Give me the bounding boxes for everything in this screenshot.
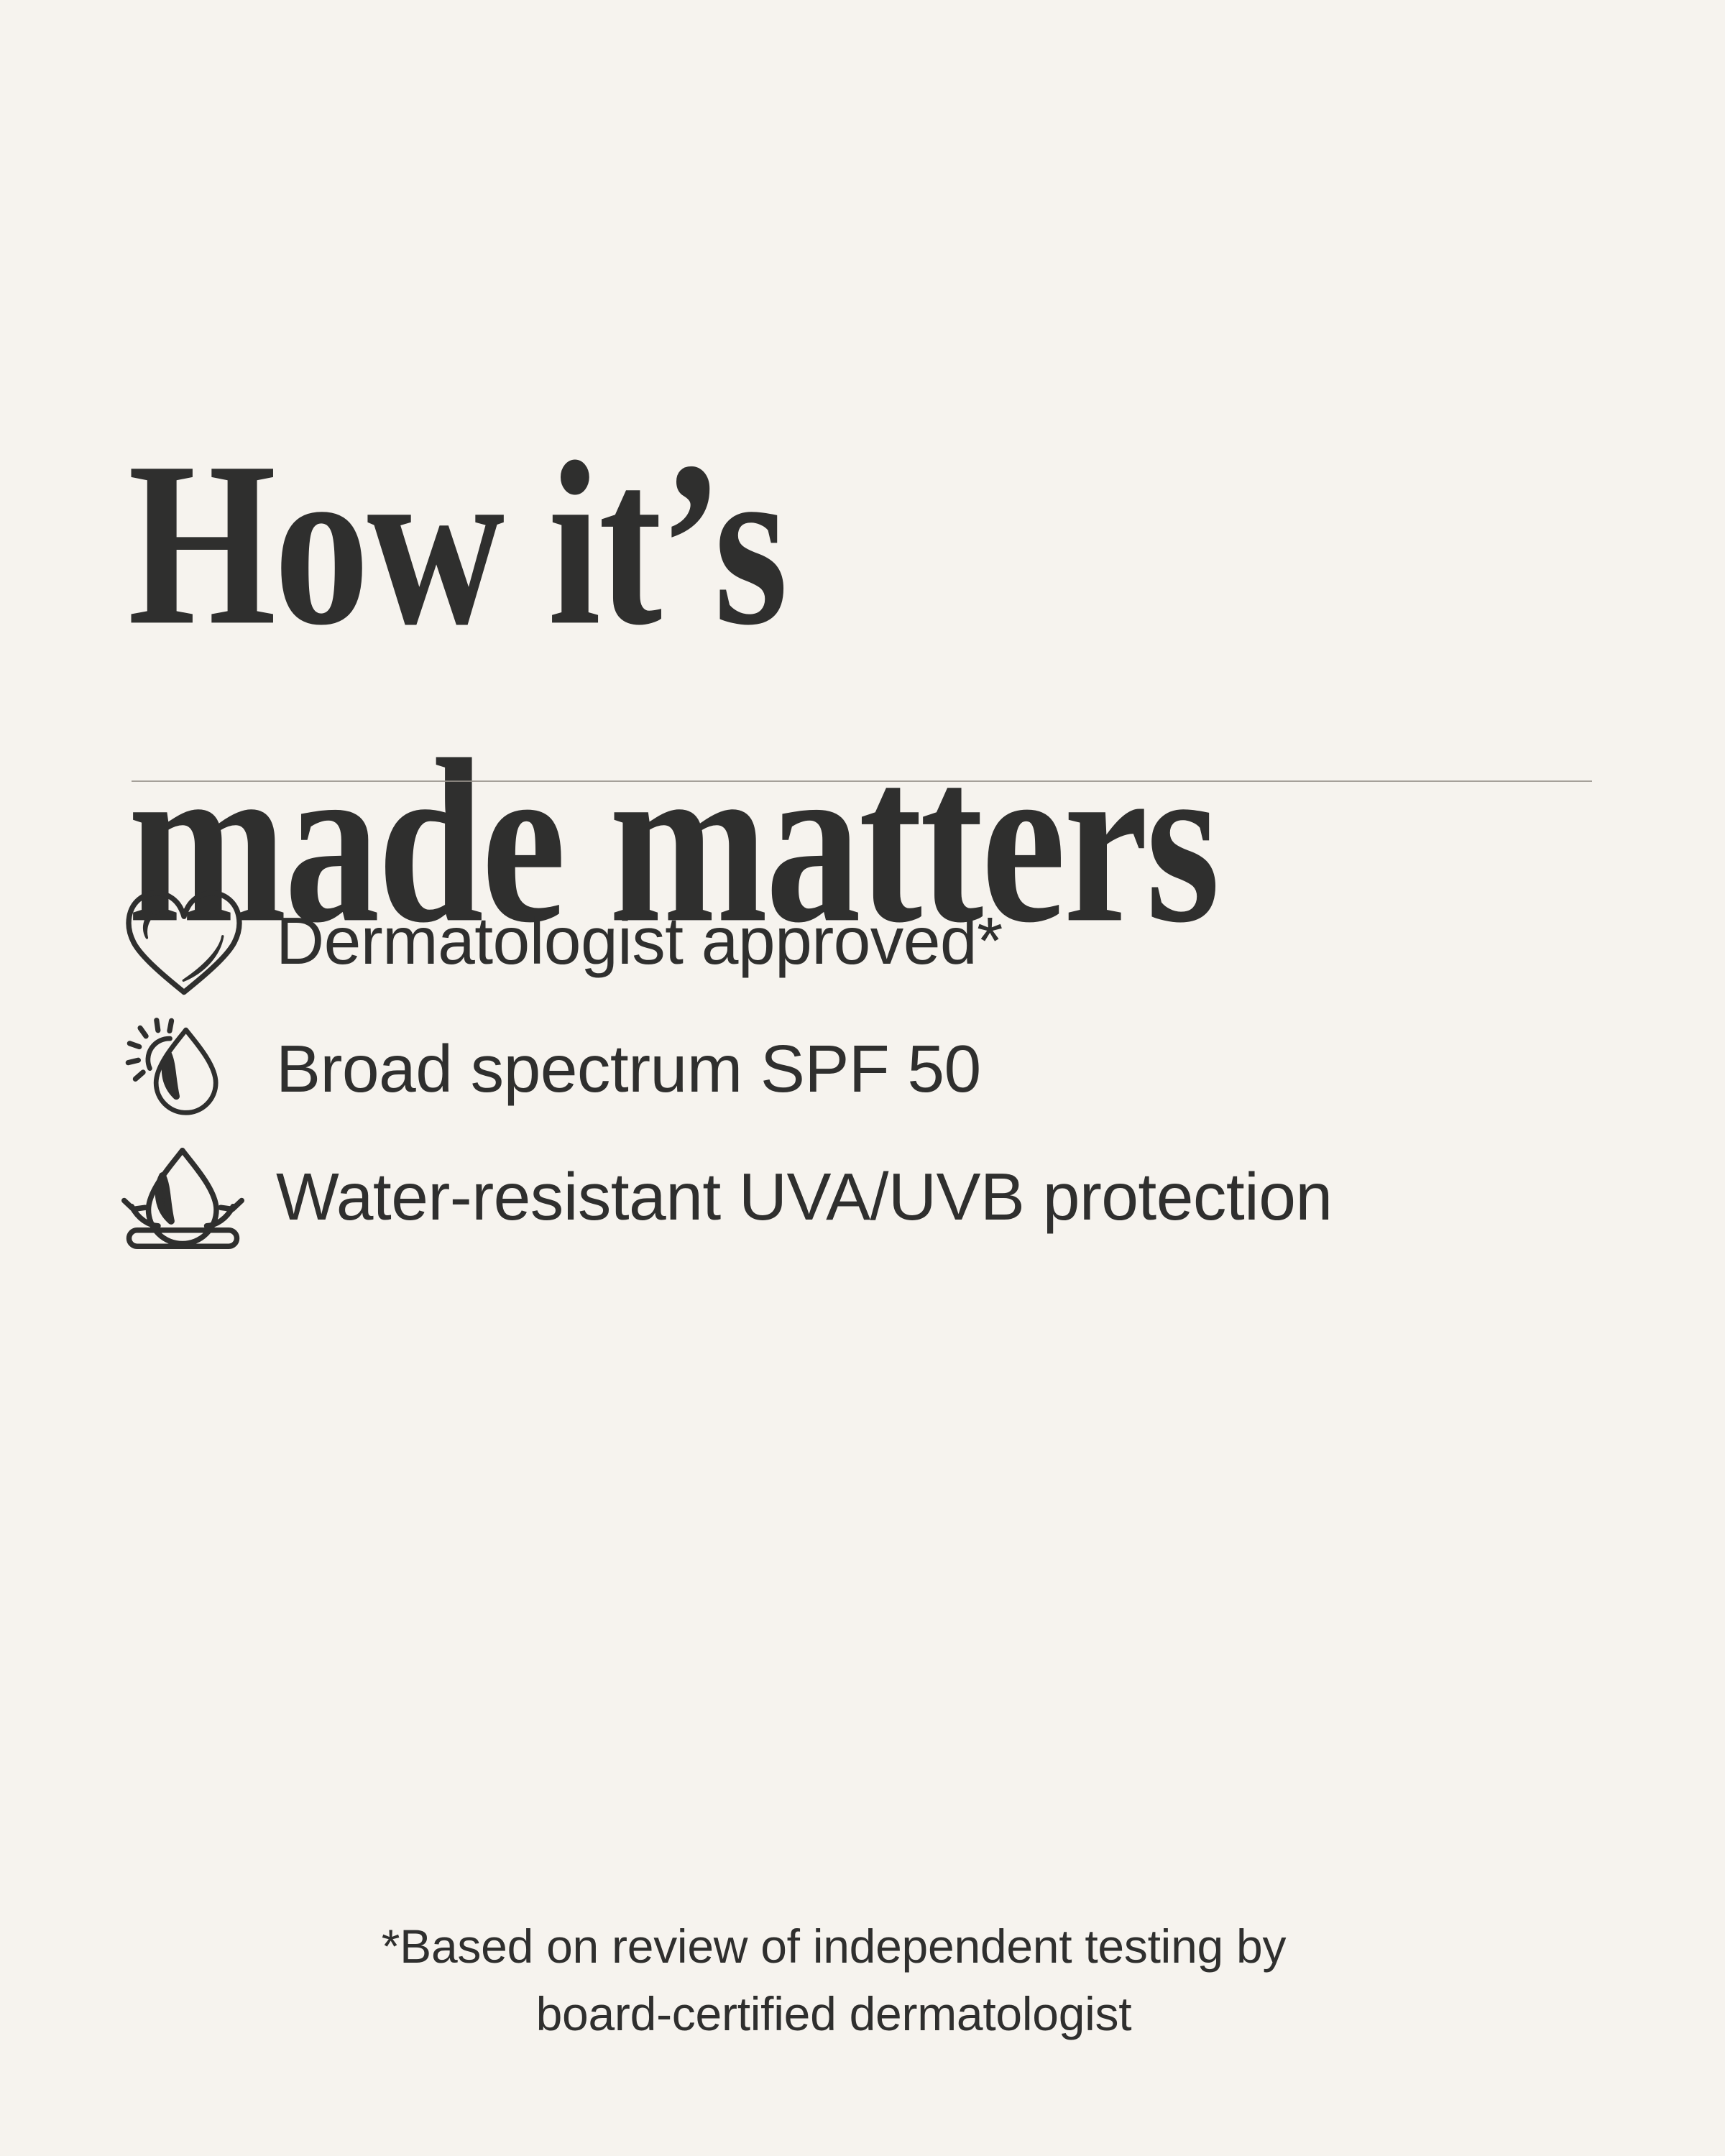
page-title-line-1: How it’s — [128, 450, 1601, 638]
section-divider — [132, 780, 1592, 782]
feature-label: Dermatologist approved* — [276, 889, 1333, 982]
feature-item-water-resistant: Water-resistant UVA/UVB protection — [114, 1145, 1623, 1256]
feature-list: Dermatologist approved* — [114, 889, 1623, 1276]
sun-droplet-icon — [114, 1017, 254, 1125]
feature-item-broad-spectrum: Broad spectrum SPF 50 — [114, 1017, 1623, 1125]
marketing-panel: How it’s made matters Dermatologist appr… — [0, 0, 1725, 2156]
footnote-disclaimer: *Based on review of independent testing … — [0, 1913, 1667, 2047]
feature-item-dermatologist-approved: Dermatologist approved* — [114, 889, 1623, 997]
heart-outline-icon — [114, 889, 254, 997]
feature-label: Water-resistant UVA/UVB protection — [276, 1145, 1333, 1238]
water-resistant-droplet-icon — [114, 1148, 254, 1256]
feature-label: Broad spectrum SPF 50 — [276, 1017, 1333, 1110]
